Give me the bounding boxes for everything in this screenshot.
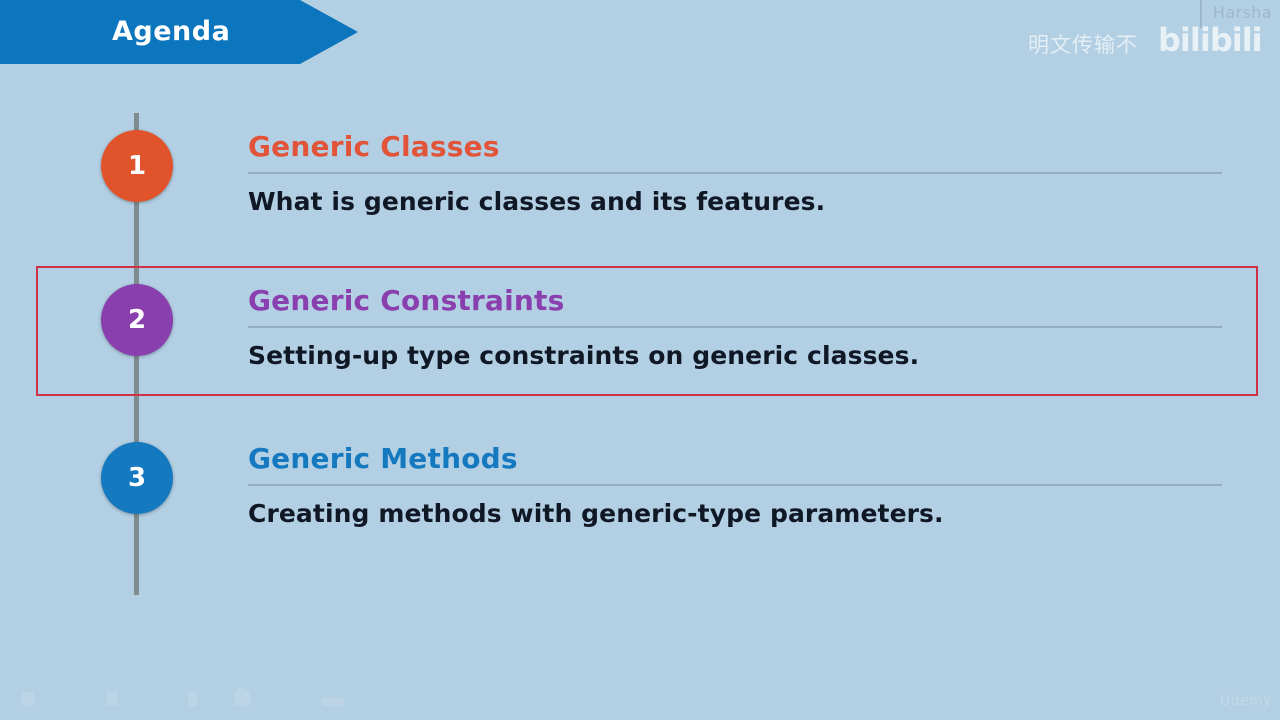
agenda-item-1-description: What is generic classes and its features…: [248, 186, 1222, 218]
agenda-item-3-rule: [248, 484, 1222, 486]
ghost-control-icon: [106, 692, 118, 706]
agenda-item-1-title: Generic Classes: [248, 130, 1222, 164]
agenda-item-2-rule: [248, 326, 1222, 328]
agenda-item-1-rule: [248, 172, 1222, 174]
agenda-item-2-text: Generic Constraints Setting-up type cons…: [248, 284, 1222, 372]
ghost-control-icon: [234, 688, 250, 706]
page-title: Agenda: [112, 16, 230, 48]
agenda-item-1-text: Generic Classes What is generic classes …: [248, 130, 1222, 218]
slide-canvas: Agenda Harsha 明文传输不 bilibili 1 Generic C…: [0, 0, 1280, 720]
bilibili-logo-watermark: bilibili: [1158, 22, 1262, 58]
agenda-item-3-text: Generic Methods Creating methods with ge…: [248, 442, 1222, 530]
agenda-banner: Agenda: [0, 0, 358, 64]
agenda-number-badge-3: 3: [101, 442, 173, 514]
agenda-number-badge-2: 2: [101, 284, 173, 356]
ghost-control-icon: [322, 698, 344, 706]
agenda-item-3-title: Generic Methods: [248, 442, 1222, 476]
ghost-player-controls: [22, 686, 382, 712]
ghost-control-icon: [22, 692, 34, 706]
agenda-item-3-description: Creating methods with generic-type param…: [248, 498, 1222, 530]
agenda-number-badge-1: 1: [101, 130, 173, 202]
ghost-control-icon: [188, 692, 197, 706]
chinese-watermark-text: 明文传输不: [1028, 32, 1138, 58]
agenda-item-2-title: Generic Constraints: [248, 284, 1222, 318]
agenda-item-2-description: Setting-up type constraints on generic c…: [248, 340, 1222, 372]
udemy-watermark: Udemy: [1220, 692, 1272, 710]
